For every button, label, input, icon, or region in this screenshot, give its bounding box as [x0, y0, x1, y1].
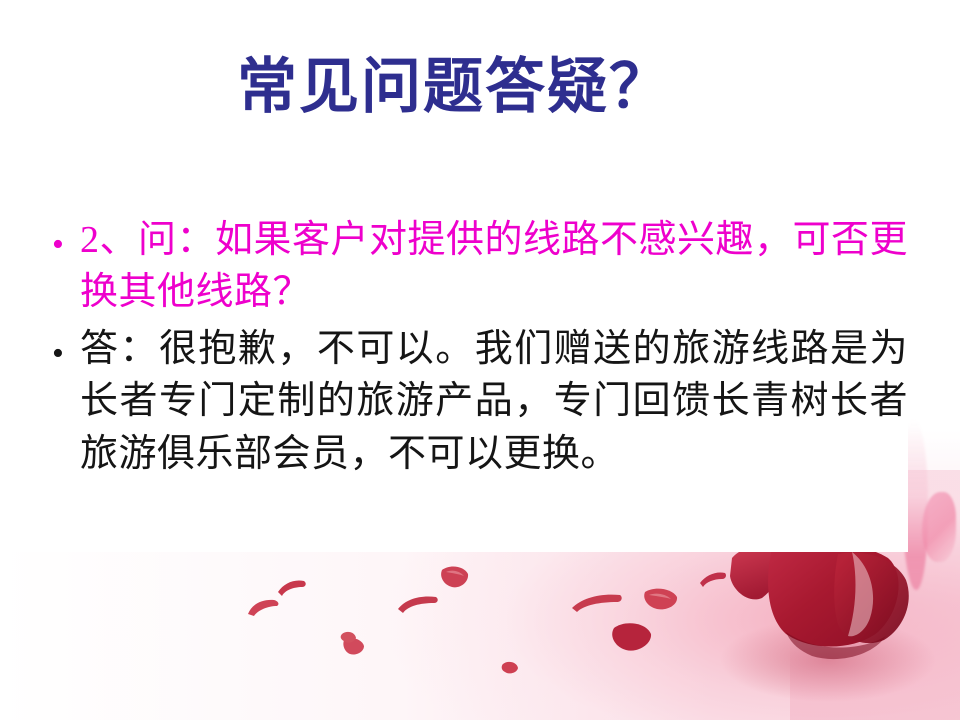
slide: 常见问题答疑？ • 2、问：如果客户对提供的线路不感兴趣，可否更换其他线路？ •… [0, 0, 960, 720]
rose-petal [396, 593, 440, 615]
bullet-marker-icon: • [52, 323, 80, 371]
rose-petal [340, 630, 358, 646]
rose-petal [500, 660, 520, 676]
rose-petal [276, 578, 308, 598]
list-item: • 2、问：如果客户对提供的线路不感兴趣，可否更换其他线路？ [52, 214, 908, 319]
list-item: • 答：很抱歉，不可以。我们赠送的旅游线路是为长者专门定制的旅游产品，专门回馈长… [52, 323, 908, 480]
rose-petal [570, 592, 624, 614]
bullet-marker-icon: • [52, 214, 80, 262]
rose-petal [246, 596, 282, 618]
rose-petal [438, 564, 470, 590]
body-content: • 2、问：如果客户对提供的线路不感兴趣，可否更换其他线路？ • 答：很抱歉，不… [52, 214, 908, 480]
question-text: 2、问：如果客户对提供的线路不感兴趣，可否更换其他线路？ [80, 214, 908, 319]
page-title: 常见问题答疑？ [0, 52, 908, 121]
rose-petal [608, 620, 654, 654]
rose-illustration [720, 540, 950, 720]
rose-petal [698, 570, 728, 588]
answer-text: 答：很抱歉，不可以。我们赠送的旅游线路是为长者专门定制的旅游产品，专门回馈长青树… [80, 323, 908, 480]
rose-petal [640, 586, 680, 612]
